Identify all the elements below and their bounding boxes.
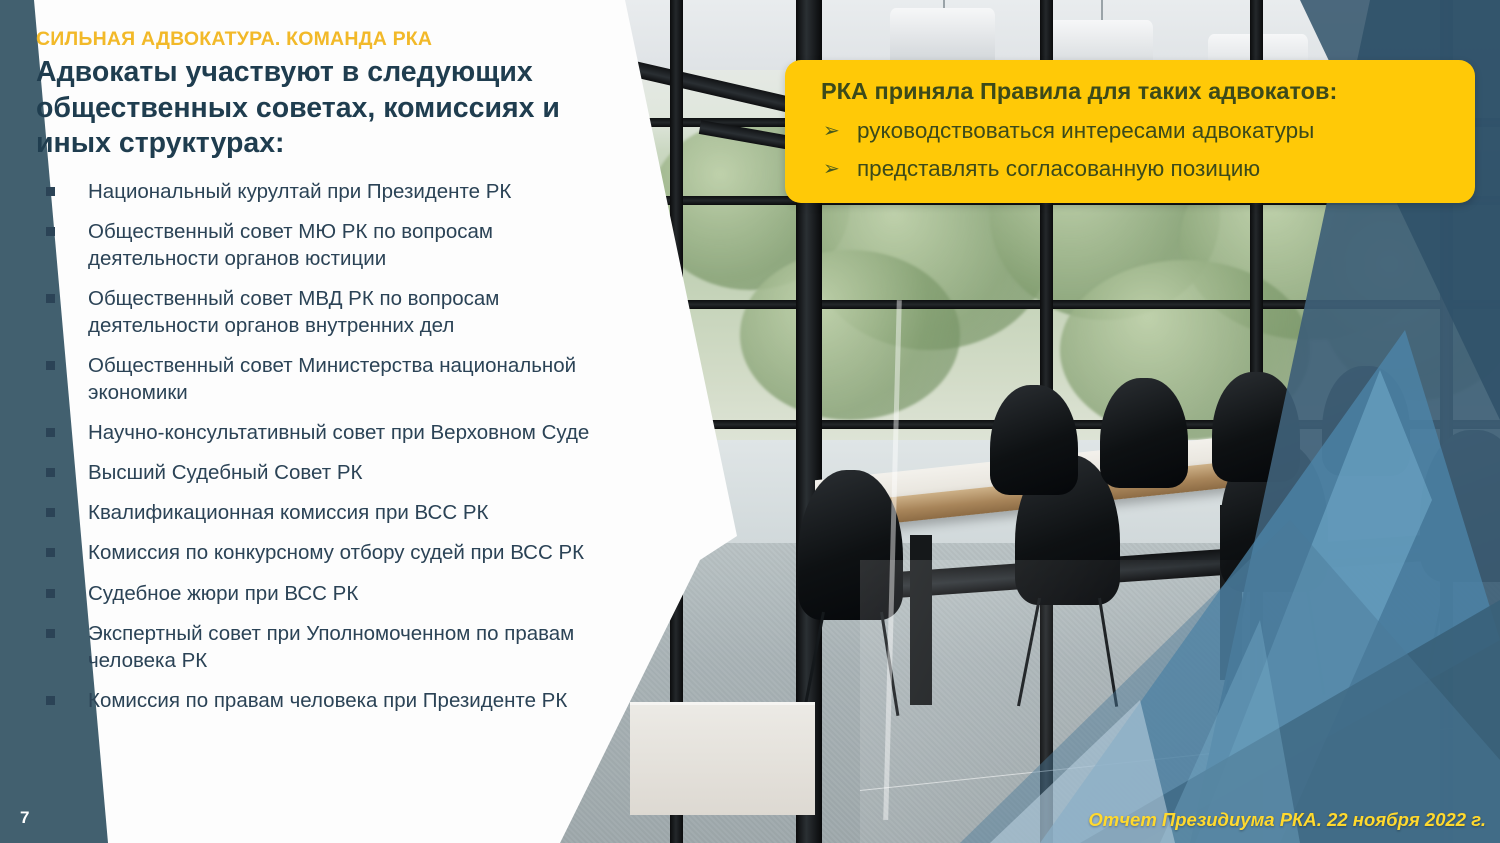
slide-number: 7 <box>20 808 29 828</box>
list-item: Общественный совет МВД РК по вопросам де… <box>36 285 611 339</box>
square-bullet-icon <box>46 589 55 598</box>
footer-note: Отчет Президиума РКА. 22 ноября 2022 г. <box>1088 809 1486 831</box>
list-item: Экспертный совет при Уполномоченном по п… <box>36 620 611 674</box>
square-bullet-icon <box>46 294 55 303</box>
list-item: Общественный совет МЮ РК по вопросам дея… <box>36 218 611 272</box>
square-bullet-icon <box>46 361 55 370</box>
callout-list: ➢ руководствоваться интересами адвокатур… <box>821 117 1455 183</box>
list-item-label: Общественный совет Министерства национал… <box>88 354 576 404</box>
photo-chair <box>1212 372 1300 482</box>
photo-chair <box>1322 366 1410 476</box>
list-item-label: Общественный совет МЮ РК по вопросам дея… <box>88 220 493 270</box>
photo-window-mullion-h <box>560 300 1500 309</box>
photo-chair <box>798 470 903 620</box>
list-item: Высший Судебный Совет РК <box>36 459 611 486</box>
square-bullet-icon <box>46 508 55 517</box>
square-bullet-icon <box>46 187 55 196</box>
list-item: Квалификационная комиссия при ВСС РК <box>36 499 611 526</box>
square-bullet-icon <box>46 468 55 477</box>
square-bullet-icon <box>46 696 55 705</box>
callout-list-item: ➢ представлять согласованную позицию <box>821 155 1455 183</box>
list-item-label: Экспертный совет при Уполномоченном по п… <box>88 622 574 672</box>
callout-item-label: руководствоваться интересами адвокатуры <box>857 118 1314 143</box>
callout-title: РКА приняла Правила для таких адвокатов: <box>821 78 1455 105</box>
list-item: Общественный совет Министерства национал… <box>36 352 611 406</box>
square-bullet-icon <box>46 629 55 638</box>
slide-kicker: СИЛЬНАЯ АДВОКАТУРА. КОМАНДА РКА <box>36 28 432 51</box>
square-bullet-icon <box>46 428 55 437</box>
photo-lamp-cord <box>1101 0 1103 20</box>
list-item-label: Научно-консультативный совет при Верховн… <box>88 421 589 444</box>
photo-cabinet <box>630 702 815 815</box>
callout-item-label: представлять согласованную позицию <box>857 156 1260 181</box>
councils-list: Национальный курултай при Президенте РК … <box>36 178 611 727</box>
list-item-label: Общественный совет МВД РК по вопросам де… <box>88 287 499 337</box>
list-item: Судебное жюри при ВСС РК <box>36 580 611 607</box>
list-item-label: Комиссия по правам человека при Президен… <box>88 689 567 712</box>
list-item: Национальный курултай при Президенте РК <box>36 178 611 205</box>
photo-table-leg <box>910 535 932 705</box>
list-item-label: Высший Судебный Совет РК <box>88 461 362 484</box>
square-bullet-icon <box>46 548 55 557</box>
list-item-label: Судебное жюри при ВСС РК <box>88 582 358 605</box>
photo-chair <box>990 385 1078 495</box>
presentation-slide: СИЛЬНАЯ АДВОКАТУРА. КОМАНДА РКА Адвокаты… <box>0 0 1500 843</box>
arrow-bullet-icon: ➢ <box>823 118 840 144</box>
photo-chair <box>1100 378 1188 488</box>
list-item-label: Квалификационная комиссия при ВСС РК <box>88 501 488 524</box>
list-item-label: Национальный курултай при Президенте РК <box>88 180 511 203</box>
list-item: Научно-консультативный совет при Верховн… <box>36 419 611 446</box>
list-item-label: Комиссия по конкурсному отбору судей при… <box>88 541 584 564</box>
arrow-bullet-icon: ➢ <box>823 156 840 182</box>
list-item: Комиссия по конкурсному отбору судей при… <box>36 539 611 566</box>
slide-headline: Адвокаты участвуют в следующих обществен… <box>36 55 596 162</box>
square-bullet-icon <box>46 227 55 236</box>
photo-tree <box>740 250 960 420</box>
callout-list-item: ➢ руководствоваться интересами адвокатур… <box>821 117 1455 145</box>
list-item: Комиссия по правам человека при Президен… <box>36 687 611 714</box>
rules-callout-box: РКА приняла Правила для таких адвокатов:… <box>785 60 1475 203</box>
photo-lamp-cord <box>943 0 945 8</box>
